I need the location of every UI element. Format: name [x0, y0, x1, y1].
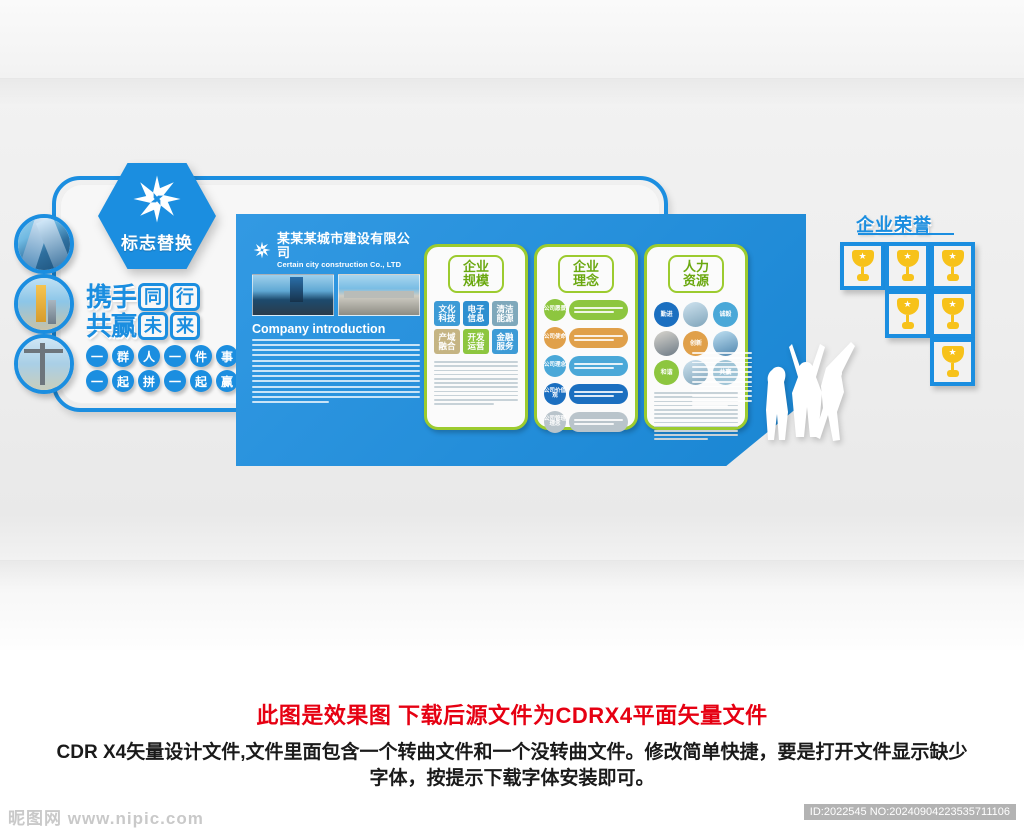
text-line: [434, 361, 518, 363]
philosophy-badge: 公司愿景: [544, 299, 566, 321]
footer: 昵图网 www.nipic.com ID:2022545 NO:20240904…: [0, 800, 1024, 838]
badge-line1: 公司价值观: [544, 389, 566, 401]
trophy-frame-1[interactable]: ★: [840, 242, 885, 290]
text-line: [252, 380, 420, 382]
tag-line2: 信息: [467, 314, 484, 323]
slogan-pill: 群: [112, 345, 134, 367]
slogan-pill: 人: [138, 345, 160, 367]
text-line: [252, 375, 420, 377]
scale-tag: 开发运营: [463, 329, 489, 354]
company-intro-title: Company introduction: [252, 322, 420, 336]
text-line: [692, 395, 752, 397]
scale-tag: 电子信息: [463, 301, 489, 326]
text-line: [252, 360, 420, 362]
id-tag: ID:2022545 NO:20240904223535711106: [804, 804, 1016, 820]
philosophy-badge: 公司使命: [544, 327, 566, 349]
text-line: [692, 376, 752, 378]
badge-line1: 公司理念: [544, 363, 566, 369]
slogan-line2-plain: 共赢: [86, 313, 136, 339]
text-line: [252, 339, 400, 341]
philosophy-bar: [569, 384, 628, 404]
text-line: [252, 365, 420, 367]
text-line: [654, 434, 738, 436]
company-photo-row: [252, 274, 420, 316]
text-line: [434, 365, 518, 367]
text-line: [252, 396, 420, 398]
text-line: [692, 362, 752, 364]
text-line: [434, 395, 518, 397]
company-intro-column: 某某某城市建设有限公司 Certain city construction Co…: [252, 232, 420, 406]
company-name-cn: 某某某城市建设有限公司: [277, 232, 420, 261]
trophy-frame-6[interactable]: ★: [930, 338, 975, 386]
trophy-star-icon: ★: [948, 348, 956, 357]
slogan-pill: 起: [112, 370, 134, 392]
text-line: [692, 366, 752, 368]
floor: [0, 650, 1024, 660]
scale-body-text: [434, 361, 518, 404]
watermark: 昵图网 www.nipic.com: [8, 804, 204, 829]
trophy-star-icon: ★: [948, 300, 956, 309]
board-right-text: [692, 352, 752, 410]
trophy-frame-3[interactable]: ★: [930, 242, 975, 290]
slogan-pill: 赢: [216, 370, 238, 392]
text-line: [434, 374, 518, 376]
skyscraper-photo: [14, 274, 74, 334]
hr-photo-circle: [683, 302, 708, 327]
philosophy-badge: 公司管理理念: [544, 411, 566, 433]
philosophy-badge: 公司理念: [544, 355, 566, 377]
trophy-star-icon: ★: [948, 252, 956, 261]
text-line: [252, 349, 420, 351]
philosophy-row: 公司价值观: [544, 383, 628, 405]
tag-line2: 融合: [438, 342, 455, 351]
badge-line1: 公司愿景: [544, 307, 566, 313]
slogan-pill: 起: [190, 370, 212, 392]
honors-title-underline: [858, 233, 954, 235]
philosophy-bar: [569, 300, 628, 320]
text-line: [252, 354, 420, 356]
card-title-line2: 理念: [560, 274, 612, 288]
tag-line2: 服务: [496, 342, 513, 351]
text-line: [434, 403, 494, 405]
slogan-pill: 一: [164, 345, 186, 367]
scale-tag-grid: 文化科技电子信息清洁能源产域融合开发运营金融服务: [434, 301, 518, 354]
slogan-pill: 事: [216, 345, 238, 367]
caption-block: 此图是效果图 下载后源文件为CDRX4平面矢量文件 CDR X4矢量设计文件,文…: [0, 664, 1024, 791]
text-line: [252, 344, 420, 346]
philosophy-row-list: 公司愿景公司使命公司理念公司价值观公司管理理念: [544, 299, 628, 433]
badge-line1: 公司使命: [544, 335, 566, 341]
crane-photo: [14, 334, 74, 394]
slogan-pill: 一: [86, 345, 108, 367]
text-line: [434, 399, 518, 401]
trophy-star-icon: ★: [903, 252, 911, 261]
slogan-line2-box-1: 未: [138, 312, 168, 340]
card-human-resources-title: 人力 资源: [668, 255, 724, 293]
trophy-star-icon: ★: [858, 252, 866, 261]
text-line: [654, 438, 708, 440]
logo-hexagon[interactable]: 标志替换: [98, 163, 216, 269]
philosophy-bar: [569, 328, 628, 348]
text-line: [692, 381, 752, 383]
text-line: [654, 413, 738, 415]
convention-center-photo: [338, 274, 420, 316]
text-line: [654, 422, 738, 424]
card-title-line1: 企业: [560, 260, 612, 274]
slogan-pill: 件: [190, 345, 212, 367]
slogan-pill: 一: [86, 370, 108, 392]
card-enterprise-scale-title: 企业 规模: [448, 255, 504, 293]
scale-tag: 产域融合: [434, 329, 460, 354]
text-line: [434, 391, 518, 393]
company-intro-body: [252, 339, 420, 403]
text-line: [434, 370, 518, 372]
trophy-star-icon: ★: [903, 300, 911, 309]
badge-line1: 公司管理理念: [544, 417, 566, 429]
hr-text-circle: 诚毅: [713, 302, 738, 327]
text-line: [252, 391, 420, 393]
slogan-pill: 拼: [138, 370, 160, 392]
flower-logo-icon: [252, 240, 272, 260]
philosophy-bar: [569, 356, 628, 376]
hr-photo-circle: [654, 331, 679, 356]
scale-tag: 清洁能源: [492, 301, 518, 326]
slogan-pill: 一: [164, 370, 186, 392]
text-line: [692, 352, 752, 354]
text-line: [692, 400, 752, 402]
slogan-line2-box-2: 来: [170, 312, 200, 340]
card-title-line1: 人力: [670, 260, 722, 274]
card-enterprise-scale: 企业 规模 文化科技电子信息清洁能源产域融合开发运营金融服务: [424, 244, 528, 430]
caption-line-1: 此图是效果图 下载后源文件为CDRX4平面矢量文件: [0, 698, 1024, 730]
text-line: [654, 417, 738, 419]
philosophy-row: 公司理念: [544, 355, 628, 377]
card-title-line2: 规模: [450, 274, 502, 288]
company-name-en: Certain city construction Co., LTD: [277, 261, 420, 269]
celebrating-people-silhouette: [756, 336, 860, 442]
scale-tag: 文化科技: [434, 301, 460, 326]
tag-line2: 能源: [496, 314, 513, 323]
text-line: [434, 382, 518, 384]
text-line: [692, 390, 752, 392]
text-line: [434, 386, 518, 388]
text-line: [692, 405, 728, 407]
logo-hexagon-label: 标志替换: [121, 229, 193, 254]
tag-line2: 运营: [467, 342, 484, 351]
card-enterprise-philosophy: 企业 理念 公司愿景公司使命公司理念公司价值观公司管理理念: [534, 244, 638, 430]
company-header: 某某某城市建设有限公司 Certain city construction Co…: [252, 232, 420, 269]
scale-tag: 金融服务: [492, 329, 518, 354]
slogan-pill-group: 一 群 人 一 件 事 一 起 拼 一 起 赢: [86, 345, 234, 392]
city-tower-photo: [252, 274, 334, 316]
hr-text-circle: 勤进: [654, 302, 679, 327]
card-title-line1: 企业: [450, 260, 502, 274]
card-enterprise-philosophy-title: 企业 理念: [558, 255, 614, 293]
slogan-line1-plain: 携手: [86, 284, 136, 310]
slogan-line1-box-1: 同: [138, 283, 168, 311]
text-line: [692, 386, 752, 388]
philosophy-row: 公司愿景: [544, 299, 628, 321]
philosophy-bar: [569, 412, 628, 432]
text-line: [654, 430, 738, 432]
card-title-line2: 资源: [670, 274, 722, 288]
text-line: [252, 401, 329, 403]
glass-tower-photo: [14, 214, 74, 274]
trophy-frame-4[interactable]: ★: [885, 290, 930, 338]
text-line: [692, 371, 752, 373]
hr-text-circle: 和谐: [654, 360, 679, 385]
trophy-frame-2[interactable]: ★: [885, 242, 930, 290]
text-line: [692, 357, 752, 359]
slogan-block: 携手 同 行 共赢 未 来 一 群 人 一 件 事 一 起 拼 一 起 赢: [86, 283, 236, 392]
text-line: [252, 370, 420, 372]
slogan-line1-box-2: 行: [170, 283, 200, 311]
philosophy-badge: 公司价值观: [544, 383, 566, 405]
philosophy-row: 公司管理理念: [544, 411, 628, 433]
wall-scene: 标志替换 携手 同 行 共赢 未 来 一 群 人 一 件 事 一 起 拼 一 起: [0, 0, 1024, 660]
caption-line-2: CDR X4矢量设计文件,文件里面包含一个转曲文件和一个没转曲文件。修改简单快捷…: [0, 740, 1024, 791]
trophy-frame-5[interactable]: ★: [930, 290, 975, 338]
philosophy-row: 公司使命: [544, 327, 628, 349]
text-line: [654, 426, 738, 428]
text-line: [252, 386, 420, 388]
flower-logo-icon: [129, 171, 185, 227]
text-line: [434, 378, 518, 380]
tag-line2: 科技: [438, 314, 455, 323]
